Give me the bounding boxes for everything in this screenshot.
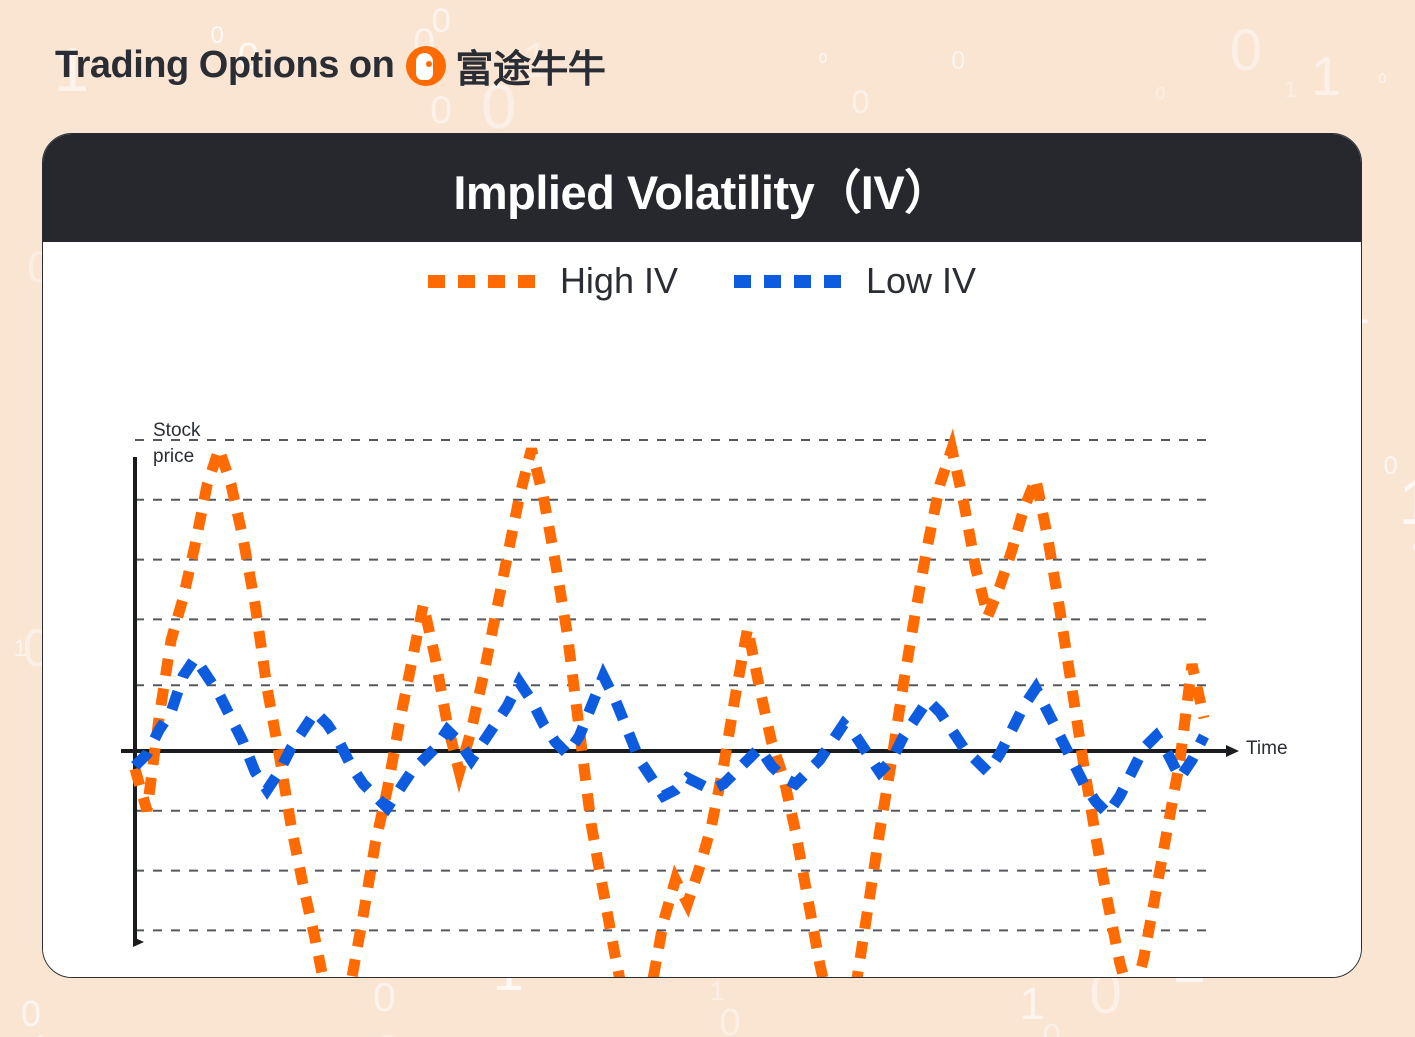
page-root: Trading Options on 富途牛牛 Implied Volatili…: [0, 0, 1415, 1037]
futu-bull-logo-icon: [406, 46, 446, 86]
brand-prefix-label: Trading Options on: [55, 44, 394, 87]
brand-cn-name: 富途牛牛: [455, 38, 605, 93]
chart-card: Implied Volatility（IV） High IV Low IV: [42, 133, 1362, 978]
card-header-bar: Implied Volatility（IV）: [43, 134, 1361, 242]
card-body: High IV Low IV: [43, 242, 1361, 977]
chart-plot-area: Stock price Time: [43, 242, 1362, 977]
x-axis-label: Time: [1246, 738, 1288, 759]
chart-series-group: [135, 449, 1204, 977]
brand-header: Trading Options on 富途牛牛: [55, 38, 605, 93]
volatility-line-chart: Stock price Time: [43, 242, 1362, 977]
series-line-low-iv: [135, 658, 1204, 814]
page-title: Implied Volatility（IV）: [453, 154, 950, 223]
y-axis-label-line1: Stock: [153, 420, 201, 441]
y-axis-label-line2: price: [153, 446, 194, 467]
